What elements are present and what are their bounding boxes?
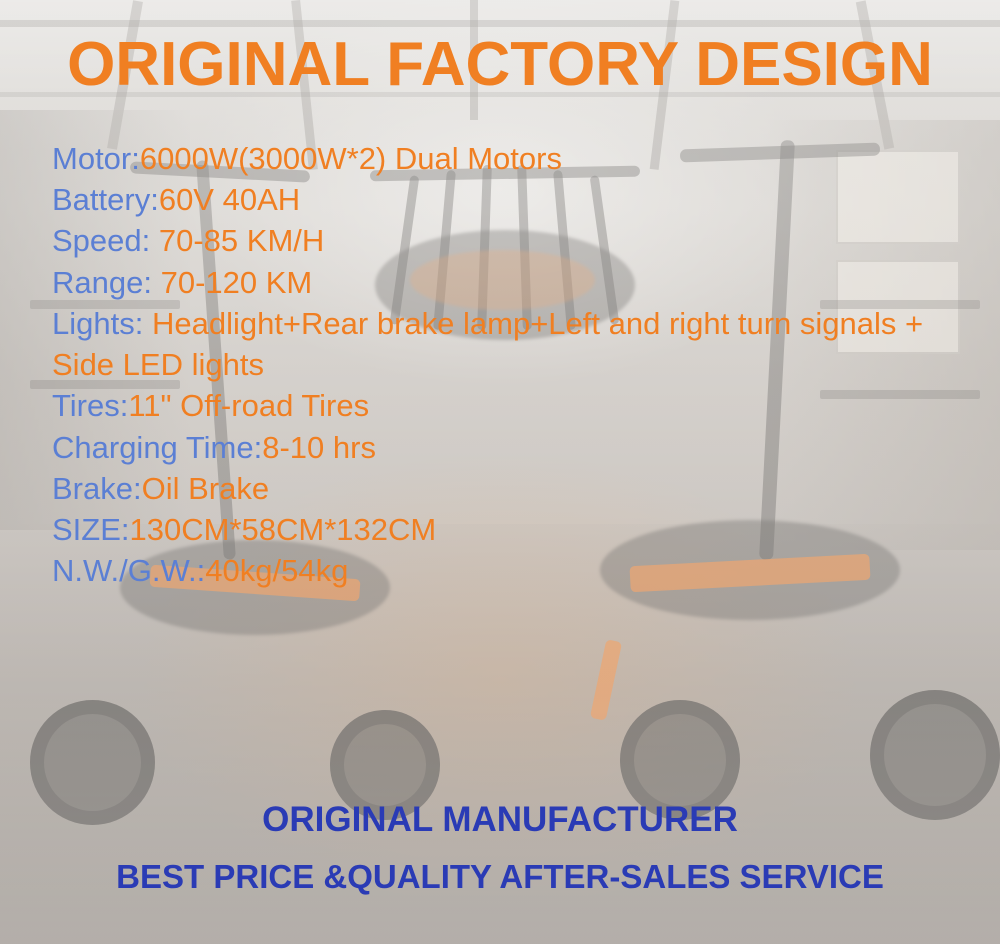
spec-key: N.W./G.W.: xyxy=(52,553,205,588)
spec-item-speed: Speed: 70-85 KM/H xyxy=(52,220,970,261)
product-spec-poster: ORIGINAL FACTORY DESIGN Motor:6000W(3000… xyxy=(0,0,1000,944)
spec-item-motor: Motor:6000W(3000W*2) Dual Motors xyxy=(52,138,970,179)
spec-value: Headlight+Rear brake lamp+Left and right… xyxy=(52,306,923,382)
poster-content: ORIGINAL FACTORY DESIGN Motor:6000W(3000… xyxy=(0,0,1000,944)
spec-key: Speed: xyxy=(52,223,150,258)
spec-key: Charging Time: xyxy=(52,430,262,465)
spec-value: 70-85 KM/H xyxy=(150,223,324,258)
spec-item-brake: Brake:Oil Brake xyxy=(52,468,970,509)
spec-item-range: Range: 70-120 KM xyxy=(52,262,970,303)
spec-value: 8-10 hrs xyxy=(262,430,376,465)
spec-item-weight: N.W./G.W.:40kg/54kg xyxy=(52,550,970,591)
spec-value: 11" Off-road Tires xyxy=(128,388,369,423)
footer-line-service: BEST PRICE &QUALITY AFTER-SALES SERVICE xyxy=(0,858,1000,896)
spec-item-battery: Battery:60V 40AH xyxy=(52,179,970,220)
spec-item-size: SIZE:130CM*58CM*132CM xyxy=(52,509,970,550)
spec-list: Motor:6000W(3000W*2) Dual Motors Battery… xyxy=(52,138,970,591)
spec-value: 6000W(3000W*2) Dual Motors xyxy=(140,141,562,176)
spec-value: 70-120 KM xyxy=(152,265,312,300)
spec-key: Range: xyxy=(52,265,152,300)
spec-item-tires: Tires:11" Off-road Tires xyxy=(52,385,970,426)
spec-value: Oil Brake xyxy=(142,471,269,506)
page-title: ORIGINAL FACTORY DESIGN xyxy=(0,34,1000,96)
spec-value: 130CM*58CM*132CM xyxy=(130,512,437,547)
footer-line-manufacturer: ORIGINAL MANUFACTURER xyxy=(0,800,1000,840)
spec-key: SIZE: xyxy=(52,512,130,547)
spec-key: Motor: xyxy=(52,141,140,176)
spec-value: 60V 40AH xyxy=(159,182,300,217)
spec-value: 40kg/54kg xyxy=(205,553,348,588)
spec-item-charging-time: Charging Time:8-10 hrs xyxy=(52,427,970,468)
spec-key: Brake: xyxy=(52,471,142,506)
spec-item-lights: Lights: Headlight+Rear brake lamp+Left a… xyxy=(52,303,970,385)
spec-key: Tires: xyxy=(52,388,128,423)
spec-key: Lights: xyxy=(52,306,143,341)
spec-key: Battery: xyxy=(52,182,159,217)
